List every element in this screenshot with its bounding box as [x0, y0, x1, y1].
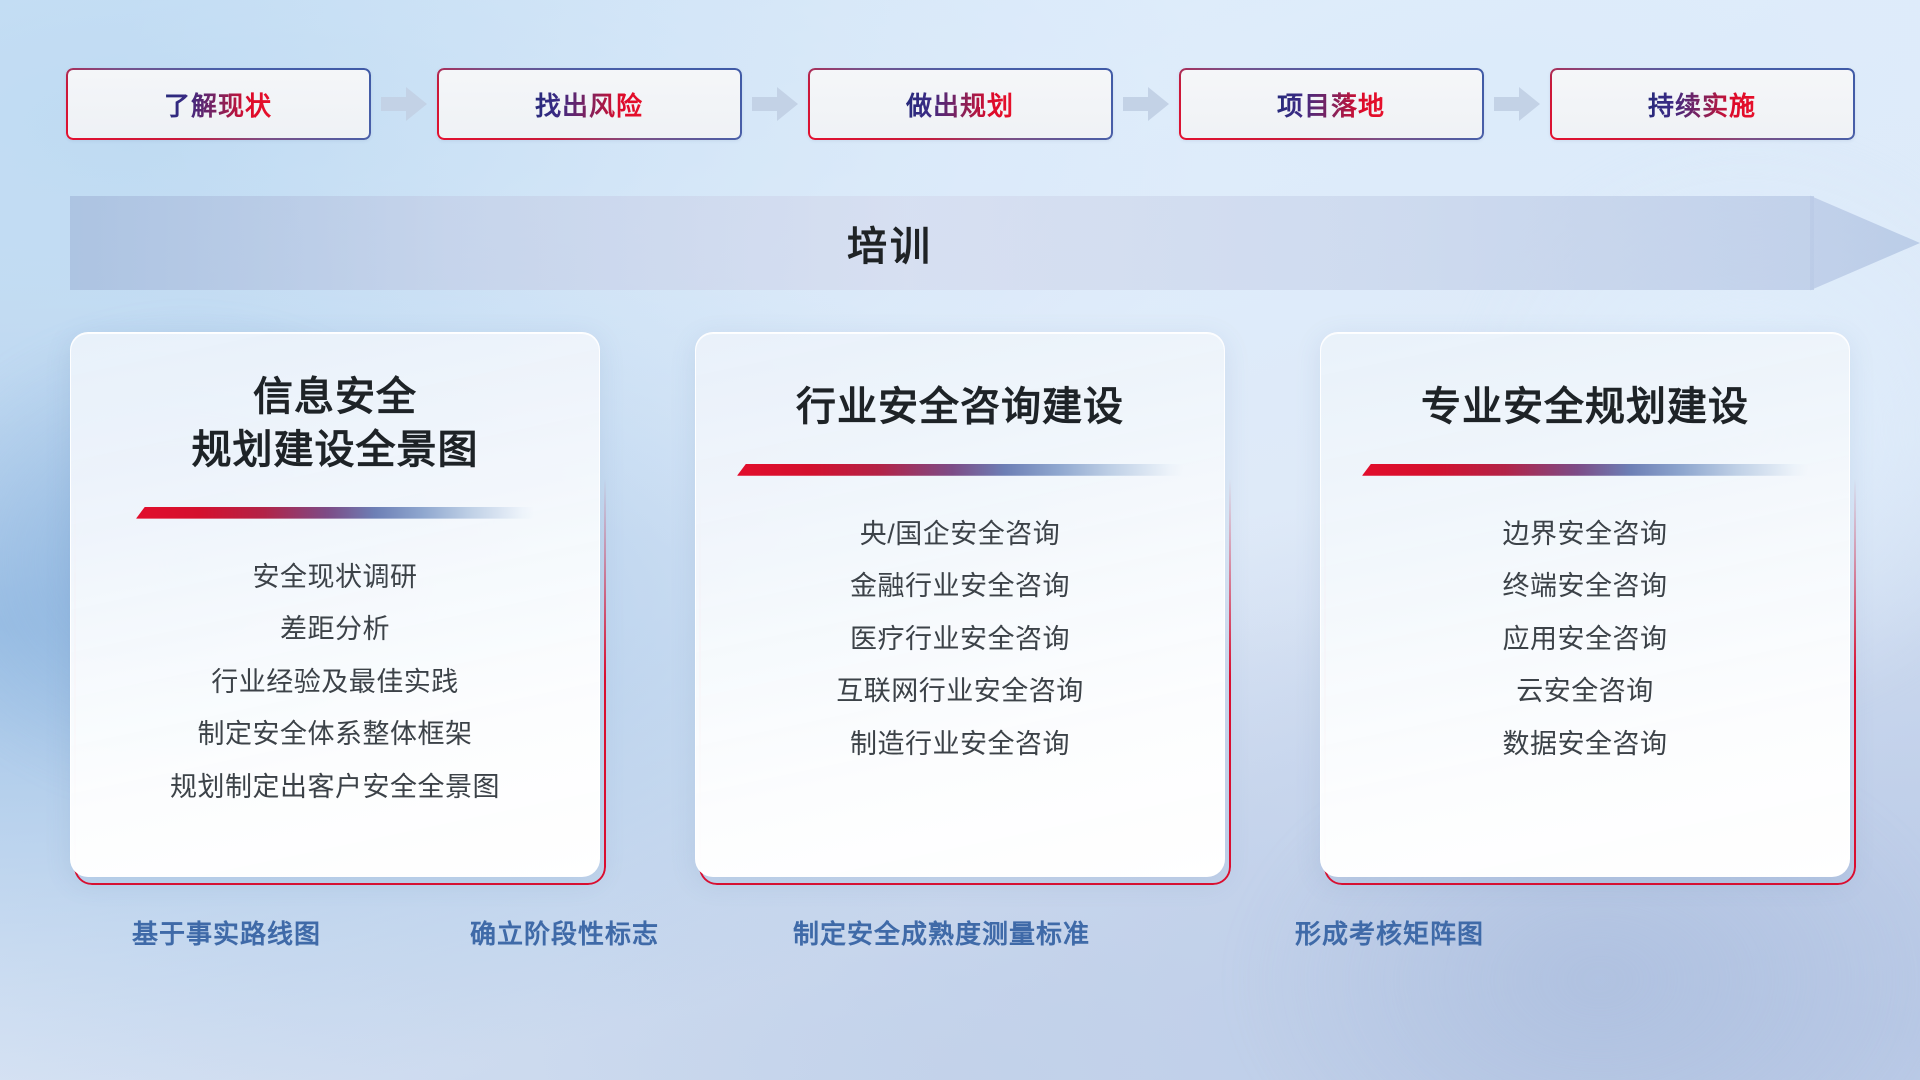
- card-surface: 行业安全咨询建设 央/国企安全咨询 金融行业安全咨询 医疗行业安全咨询 互联网行…: [695, 332, 1225, 877]
- card-2[interactable]: 行业安全咨询建设 央/国企安全咨询 金融行业安全咨询 医疗行业安全咨询 互联网行…: [695, 332, 1225, 877]
- step-label: 做出规划: [906, 86, 1014, 123]
- list-item: 应用安全咨询: [1503, 619, 1668, 660]
- list-item: 金融行业安全咨询: [850, 566, 1070, 607]
- card-divider-rule: [136, 507, 534, 519]
- card-item-list: 安全现状调研 差距分析 行业经验及最佳实践 制定安全体系整体框架 规划制定出客户…: [170, 557, 500, 808]
- step-button-4[interactable]: 项目落地: [1179, 68, 1484, 140]
- band-title: 培训: [0, 196, 1780, 290]
- card-item-list: 央/国企安全咨询 金融行业安全咨询 医疗行业安全咨询 互联网行业安全咨询 制造行…: [836, 514, 1084, 765]
- card-surface: 信息安全 规划建设全景图 安全现状调研 差距分析 行业经验及最佳实践 制定安全体…: [70, 332, 600, 877]
- step-button-3[interactable]: 做出规划: [808, 68, 1113, 140]
- step-button-1[interactable]: 了解现状: [66, 68, 371, 140]
- arrow-right-icon: [371, 84, 437, 124]
- list-item: 行业经验及最佳实践: [211, 662, 459, 703]
- list-item: 互联网行业安全咨询: [836, 671, 1084, 712]
- list-item: 央/国企安全咨询: [860, 514, 1061, 555]
- card-title: 行业安全咨询建设: [796, 381, 1124, 434]
- card-row: 信息安全 规划建设全景图 安全现状调研 差距分析 行业经验及最佳实践 制定安全体…: [70, 332, 1850, 877]
- step-label: 持续实施: [1648, 86, 1756, 123]
- step-label: 找出风险: [535, 86, 643, 123]
- process-step-row: 了解现状 找出风险 做出规划 项目落地 持续实施: [0, 68, 1920, 140]
- step-button-5[interactable]: 持续实施: [1550, 68, 1855, 140]
- list-item: 差距分析: [280, 609, 390, 650]
- card-divider-rule: [1362, 464, 1808, 476]
- list-item: 安全现状调研: [253, 557, 418, 598]
- list-item: 数据安全咨询: [1503, 724, 1668, 765]
- list-item: 制造行业安全咨询: [850, 724, 1070, 765]
- card-title: 专业安全规划建设: [1421, 381, 1749, 434]
- arrow-right-icon: [1113, 84, 1179, 124]
- list-item: 规划制定出客户安全全景图: [170, 767, 500, 808]
- list-item: 制定安全体系整体框架: [198, 714, 473, 755]
- arrow-right-icon: [1484, 84, 1550, 124]
- footer-label-row: 基于事实路线图 确立阶段性标志 制定安全成熟度测量标准 形成考核矩阵图: [70, 908, 1850, 956]
- training-band: 培训: [0, 196, 1920, 290]
- card-3[interactable]: 专业安全规划建设 边界安全咨询 终端安全咨询 应用安全咨询 云安全咨询 数据安全…: [1320, 332, 1850, 877]
- step-button-2[interactable]: 找出风险: [437, 68, 742, 140]
- footer-label-4: 形成考核矩阵图: [1295, 914, 1484, 951]
- arrow-right-icon: [742, 84, 808, 124]
- step-label: 项目落地: [1277, 86, 1385, 123]
- list-item: 边界安全咨询: [1503, 514, 1668, 555]
- card-item-list: 边界安全咨询 终端安全咨询 应用安全咨询 云安全咨询 数据安全咨询: [1503, 514, 1668, 765]
- footer-label-3: 制定安全成熟度测量标准: [793, 914, 1090, 951]
- card-divider-rule: [737, 464, 1183, 476]
- footer-label-1: 基于事实路线图: [132, 914, 321, 951]
- card-surface: 专业安全规划建设 边界安全咨询 终端安全咨询 应用安全咨询 云安全咨询 数据安全…: [1320, 332, 1850, 877]
- step-label: 了解现状: [164, 86, 272, 123]
- footer-label-2: 确立阶段性标志: [470, 914, 659, 951]
- band-arrowhead-icon: [1810, 179, 1920, 307]
- list-item: 终端安全咨询: [1503, 566, 1668, 607]
- list-item: 云安全咨询: [1516, 671, 1654, 712]
- card-1[interactable]: 信息安全 规划建设全景图 安全现状调研 差距分析 行业经验及最佳实践 制定安全体…: [70, 332, 600, 877]
- list-item: 医疗行业安全咨询: [850, 619, 1070, 660]
- card-title: 信息安全 规划建设全景图: [192, 371, 479, 477]
